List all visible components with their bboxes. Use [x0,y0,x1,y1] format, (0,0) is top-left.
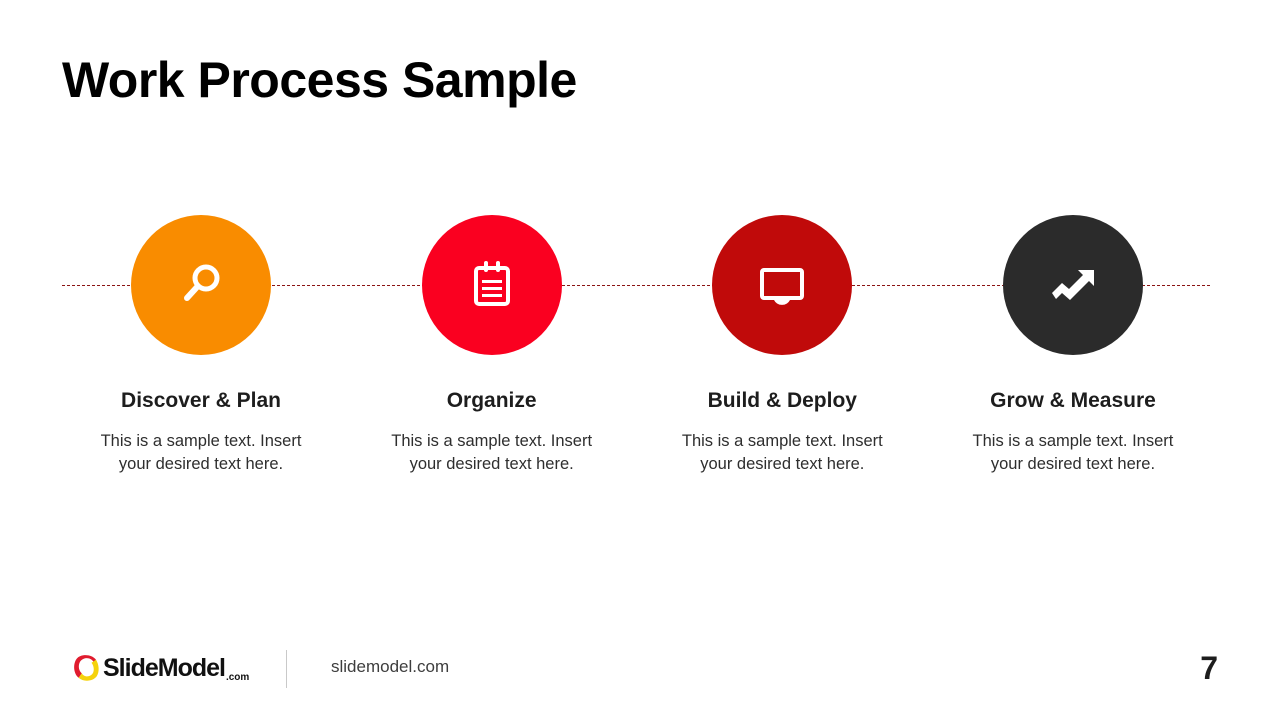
slidemodel-logo-mark [72,653,102,683]
footer-website-url[interactable]: slidemodel.com [331,657,449,677]
step-description-2: This is a sample text. Insert your desir… [387,430,597,476]
slidemodel-logo-tld: .com [226,672,249,683]
step-circle-3[interactable] [712,215,852,355]
process-steps-row: Discover & Plan This is a sample text. I… [62,215,1212,525]
slide-footer: SlideModel .com slidemodel.com 7 [0,648,1280,698]
notepad-icon [464,257,520,313]
step-title-3: Build & Deploy [708,388,857,414]
step-circle-1[interactable] [131,215,271,355]
step-title-2: Organize [447,388,537,414]
step-description-3: This is a sample text. Insert your desir… [677,430,887,476]
step-circle-4[interactable] [1003,215,1143,355]
step-description-4: This is a sample text. Insert your desir… [968,430,1178,476]
step-circle-2[interactable] [422,215,562,355]
growth-arrow-icon [1045,257,1101,313]
slide-page-number: 7 [1200,650,1218,687]
step-description-1: This is a sample text. Insert your desir… [96,430,306,476]
process-step-grow-measure[interactable]: Grow & Measure This is a sample text. In… [934,215,1212,476]
step-title-4: Grow & Measure [990,388,1156,414]
slidemodel-logo-text: SlideModel [103,654,225,683]
process-step-organize[interactable]: Organize This is a sample text. Insert y… [353,215,631,476]
process-step-build-deploy[interactable]: Build & Deploy This is a sample text. In… [643,215,921,476]
magnifier-icon [173,257,229,313]
process-step-discover-plan[interactable]: Discover & Plan This is a sample text. I… [62,215,340,476]
step-title-1: Discover & Plan [121,388,281,414]
footer-divider [286,650,287,688]
slide-canvas: Work Process Sample Discover & Plan This… [0,0,1280,720]
monitor-icon [754,257,810,313]
slidemodel-logo[interactable]: SlideModel .com [72,648,249,688]
page-title: Work Process Sample [62,50,577,110]
